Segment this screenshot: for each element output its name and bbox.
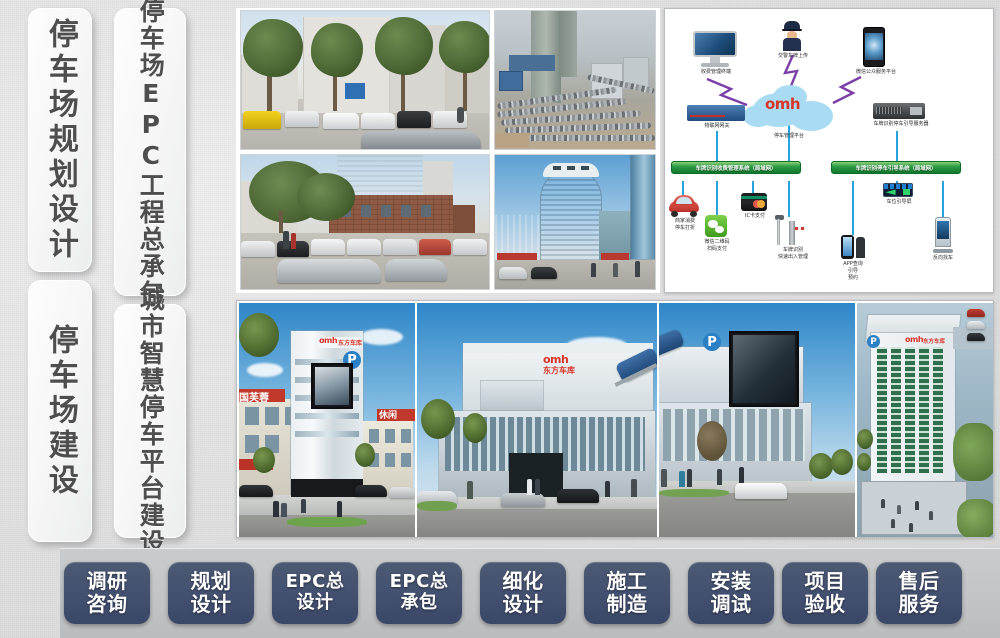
step-label-line2: 咨询 [87,593,128,616]
process-step-bar: 调研 咨询 规划 设计 EPC总 设计 EPC总 承包 细化 设计 施工 制造 … [0,548,1000,638]
photo-aerial-parking [494,10,656,150]
server-icon [873,103,925,119]
smartphone-icon [863,27,885,67]
reverse-find-car-kiosk-icon [931,217,955,253]
barrier-gate-icon [775,215,805,245]
sidebar-item-parking-epc-contracting[interactable]: 停车场EPC工程总承包 [114,8,186,296]
step-label-line1: 安装 [711,570,752,593]
sidebar-item-label: 停车场建设 [44,324,76,499]
police-officer-icon [781,21,803,51]
step-label-line2: 服务 [899,593,940,616]
render-sign-left: 国芙蓉 [239,389,269,404]
parking-p-mark: P [703,333,721,351]
step-label-line1: 施工 [607,570,648,593]
sidebar-item-parking-planning-design[interactable]: 停车场规划设计 [28,8,92,272]
photo-street-parking [240,10,490,150]
omh-logo: omh [905,335,923,344]
omh-logo: omh [319,336,337,345]
red-car-icon [669,195,699,217]
photo-brick-building-lot [240,154,490,290]
space-guide-screen-icon [883,183,913,197]
sidebar-item-smart-city-parking-platform[interactable]: 城市智慧停车平台建设 [114,304,186,538]
slide-canvas: 停车场规划设计 停车场EPC工程总承包 停车场建设 城市智慧停车平台建设 [0,0,1000,638]
photo-collage [236,8,660,293]
render-tower-garage: 国芙蓉 omh 东方车库 P [239,303,415,537]
step-label-line2: 制造 [607,593,648,616]
render-sign-right: 休闲 [379,408,397,421]
step-label-line2: 调试 [711,593,752,616]
sidebar-item-label: 停车场EPC工程总承包 [137,0,164,307]
step-button-0[interactable]: 调研 咨询 [64,562,150,624]
leaf-label-ic-card-pay: IC卡支付 [737,213,773,220]
step-button-3[interactable]: EPC总 承包 [376,562,462,624]
omh-logo-cn: 东方车库 [543,365,575,376]
step-label-line1: 项目 [805,570,846,593]
cloud-label: 停车管理平台 [749,133,829,140]
step-label-line1: 调研 [87,570,128,593]
step-label-line1: 规划 [191,570,232,593]
omh-logo: omh [765,95,800,113]
sidebar-item-parking-construction[interactable]: 停车场建设 [28,280,92,542]
step-label-line2: 设计 [503,593,544,616]
step-button-5[interactable]: 施工 制造 [584,562,670,624]
step-button-1[interactable]: 规划 设计 [168,562,254,624]
render-billboard-garage: P [659,303,855,537]
step-label-line2: 验收 [805,593,846,616]
render-aerial-tower: P omh 东方车库 [857,303,993,537]
router-icon [687,105,745,121]
diagram-node-label: 收费管理终端 [681,69,751,76]
leaf-label-plate-fast-access: 车牌识别 快速出入管理 [765,247,821,261]
step-label-line2: 设计 [191,593,232,616]
ic-card-icon [741,193,767,211]
system-architecture-diagram: omh 停车管理平台 收费管理终端 交警车牌上传 微信公众服务平台 物联网网关 [664,8,994,293]
wechat-icon [705,215,727,237]
diagram-node-label: 微信公众服务平台 [841,69,911,76]
step-label-line1: 细化 [503,570,544,593]
step-label-line1: EPC总 [390,572,449,593]
sidebar-item-label: 城市智慧停车平台建设 [137,286,164,556]
step-label-line1: EPC总 [286,572,345,593]
leaf-label-app-query-guide: APP查询 引导 预约 [829,261,877,281]
step-button-6[interactable]: 安装 调试 [688,562,774,624]
step-button-4[interactable]: 细化 设计 [480,562,566,624]
omh-logo-cn: 东方车库 [338,338,362,347]
diagram-node-label: 交警车牌上传 [761,53,825,60]
leaf-label-space-guide-screen: 车位引导屏 [871,199,927,206]
step-button-2[interactable]: EPC总 设计 [272,562,358,624]
sidebar-item-label: 停车场规划设计 [44,18,76,263]
step-button-8[interactable]: 售后 服务 [876,562,962,624]
diagram-node-label: 车牌识别停车引导服务器 [855,121,947,128]
banner-toll-system: 车牌识别收费管理系统（局域网） [671,161,801,174]
omh-logo-cn: 东方车库 [923,337,945,345]
leaf-label-reverse-find-car: 反向找车 [921,255,965,262]
vertical-tab-column: 停车场规划设计 停车场EPC工程总承包 停车场建设 城市智慧停车平台建设 [0,0,232,560]
step-label-line2: 承包 [401,593,438,614]
diagram-node-label: 物联网网关 [689,123,745,130]
monitor-icon [693,31,737,67]
leaf-label-merchant-discount: 商家消费 停车打折 [665,218,705,232]
content-area: omh 停车管理平台 收费管理终端 交警车牌上传 微信公众服务平台 物联网网关 [236,8,994,538]
app-guide-icon [841,235,865,259]
leaf-label-wechat-qr-pay: 微信二维码 扫码支付 [693,239,741,253]
parking-p-mark: P [867,335,880,348]
render-mid-garage: omh 东方车库 [417,303,657,537]
step-button-7[interactable]: 项目 验收 [782,562,868,624]
photo-glass-tower [494,154,656,290]
banner-guide-system: 车牌识别停车引导系统（局域网） [831,161,961,174]
render-gallery: 国芙蓉 omh 东方车库 P [236,300,994,538]
step-label-line1: 售后 [899,570,940,593]
step-label-line2: 设计 [297,593,334,614]
